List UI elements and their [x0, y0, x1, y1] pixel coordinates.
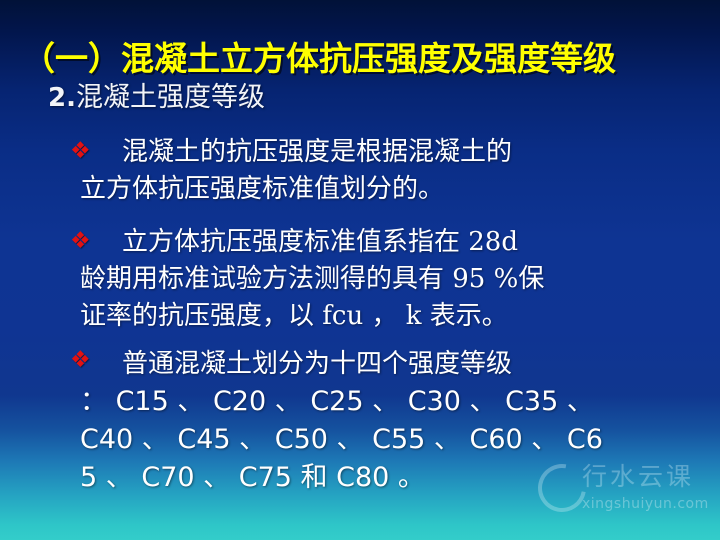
- subtitle-text: 混凝土强度等级: [76, 82, 265, 113]
- slide-title: （一）混凝土立方体抗压强度及强度等级: [22, 40, 712, 78]
- bullet-line: 5 、 C70 、 C75 和 C80 。: [80, 459, 425, 497]
- bullet-item: ❖ 混凝土的抗压强度是根据混凝土的立方体抗压强度标准值划分的。: [0, 134, 720, 208]
- bullet-line: ： C15 、 C20 、 C25 、 C30 、 C35 、: [80, 383, 594, 421]
- bullet-line: C40 、 C45 、 C50 、 C55 、 C60 、 C6: [80, 421, 603, 459]
- slide-subtitle: 2.混凝土强度等级: [48, 82, 708, 114]
- bullet-paragraph: 立方体抗压强度标准值系指在 28d龄期用标准试验方法测得的具有 95 %保证率的…: [70, 224, 706, 335]
- bullet-paragraph: 混凝土的抗压强度是根据混凝土的立方体抗压强度标准值划分的。: [70, 134, 706, 208]
- bullet-item: ❖ 立方体抗压强度标准值系指在 28d龄期用标准试验方法测得的具有 95 %保证…: [0, 224, 720, 335]
- bullet-paragraph: 普通混凝土划分为十四个强度等级： C15 、 C20 、 C25 、 C30 、…: [70, 345, 706, 497]
- bullet-line: 证率的抗压强度，以 fcu ， k 表示。: [80, 298, 508, 335]
- diamond-bullet-icon: ❖: [70, 140, 100, 166]
- bullet-line: 立方体抗压强度标准值系指在 28d: [122, 227, 518, 257]
- bullet-line: 混凝土的抗压强度是根据混凝土的: [122, 137, 512, 167]
- bullet-line: 普通混凝土划分为十四个强度等级: [122, 349, 512, 379]
- bullet-line: 立方体抗压强度标准值划分的。: [80, 171, 444, 208]
- subtitle-number: 2.: [48, 83, 76, 113]
- slide-body: ❖ 混凝土的抗压强度是根据混凝土的立方体抗压强度标准值划分的。 ❖ 立方体抗压强…: [0, 128, 720, 499]
- diamond-bullet-icon: ❖: [70, 230, 100, 256]
- bullet-item: ❖ 普通混凝土划分为十四个强度等级： C15 、 C20 、 C25 、 C30…: [0, 345, 720, 497]
- slide-canvas: （一）混凝土立方体抗压强度及强度等级 2.混凝土强度等级 ❖ 混凝土的抗压强度是…: [0, 0, 720, 540]
- diamond-bullet-icon: ❖: [70, 349, 100, 375]
- bullet-line: 龄期用标准试验方法测得的具有 95 %保: [80, 261, 544, 298]
